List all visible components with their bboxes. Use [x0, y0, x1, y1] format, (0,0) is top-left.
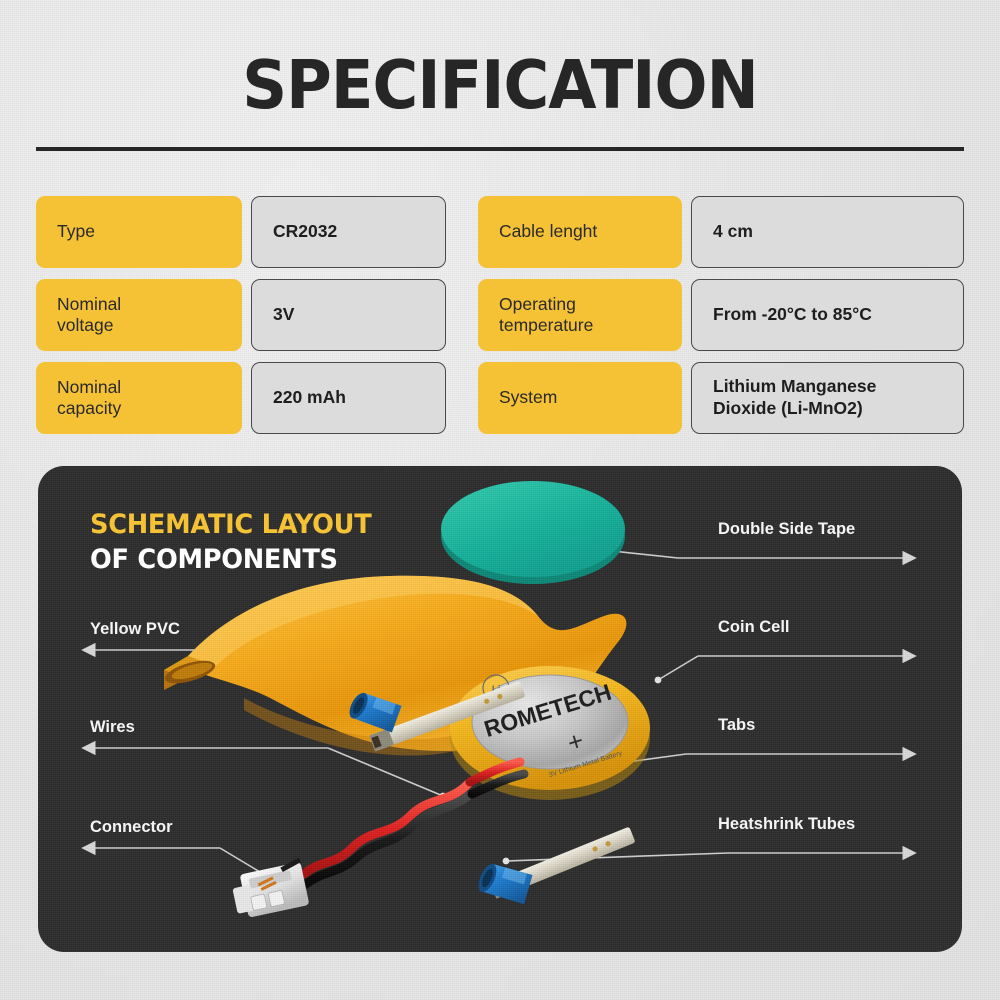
callout-label-yellow-pvc: Yellow PVC	[90, 620, 180, 639]
spec-row: Nominalvoltage 3V	[36, 279, 446, 351]
spec-label: Nominalvoltage	[36, 279, 242, 351]
spec-row: Nominalcapacity 220 mAh	[36, 362, 446, 434]
title-divider	[36, 147, 964, 151]
schematic-panel: ROMETECH + 3V Lithium Metal Battery Li	[38, 466, 962, 952]
panel-heading: SCHEMATIC LAYOUT OF COMPONENTS	[90, 508, 371, 577]
spec-label: Nominalcapacity	[36, 362, 242, 434]
spec-row: Type CR2032	[36, 196, 446, 268]
spec-label: Operatingtemperature	[478, 279, 682, 351]
spec-column-left: Type CR2032 Nominalvoltage 3V Nominalcap…	[36, 196, 446, 434]
spec-row: System Lithium ManganeseDioxide (Li-MnO2…	[478, 362, 964, 434]
callout-label-heatshrink-tubes: Heatshrink Tubes	[718, 815, 855, 834]
spec-value: Lithium ManganeseDioxide (Li-MnO2)	[691, 362, 964, 434]
spec-row: Cable lenght 4 cm	[478, 196, 964, 268]
spec-value: 220 mAh	[251, 362, 446, 434]
infographic-page: SPECIFICATION Type CR2032 Nominalvoltage…	[0, 0, 1000, 1000]
callout-label-connector: Connector	[90, 818, 173, 837]
panel-heading-line1: SCHEMATIC LAYOUT	[90, 508, 371, 543]
callout-label-double-side-tape: Double Side Tape	[718, 520, 855, 539]
spec-value: CR2032	[251, 196, 446, 268]
connector-graphic	[229, 860, 309, 920]
callout-label-tabs: Tabs	[718, 716, 755, 735]
spec-value: From -20°C to 85°C	[691, 279, 964, 351]
callout-label-coin-cell: Coin Cell	[718, 618, 790, 637]
spec-label: Type	[36, 196, 242, 268]
spec-row: Operatingtemperature From -20°C to 85°C	[478, 279, 964, 351]
spec-value: 4 cm	[691, 196, 964, 268]
spec-label: Cable lenght	[478, 196, 682, 268]
spec-value: 3V	[251, 279, 446, 351]
panel-heading-line2: OF COMPONENTS	[90, 543, 371, 578]
double-side-tape-graphic	[441, 481, 625, 584]
spec-column-right: Cable lenght 4 cm Operatingtemperature F…	[478, 196, 964, 434]
page-title: SPECIFICATION	[35, 46, 965, 124]
callout-label-wires: Wires	[90, 718, 135, 737]
spec-label: System	[478, 362, 682, 434]
